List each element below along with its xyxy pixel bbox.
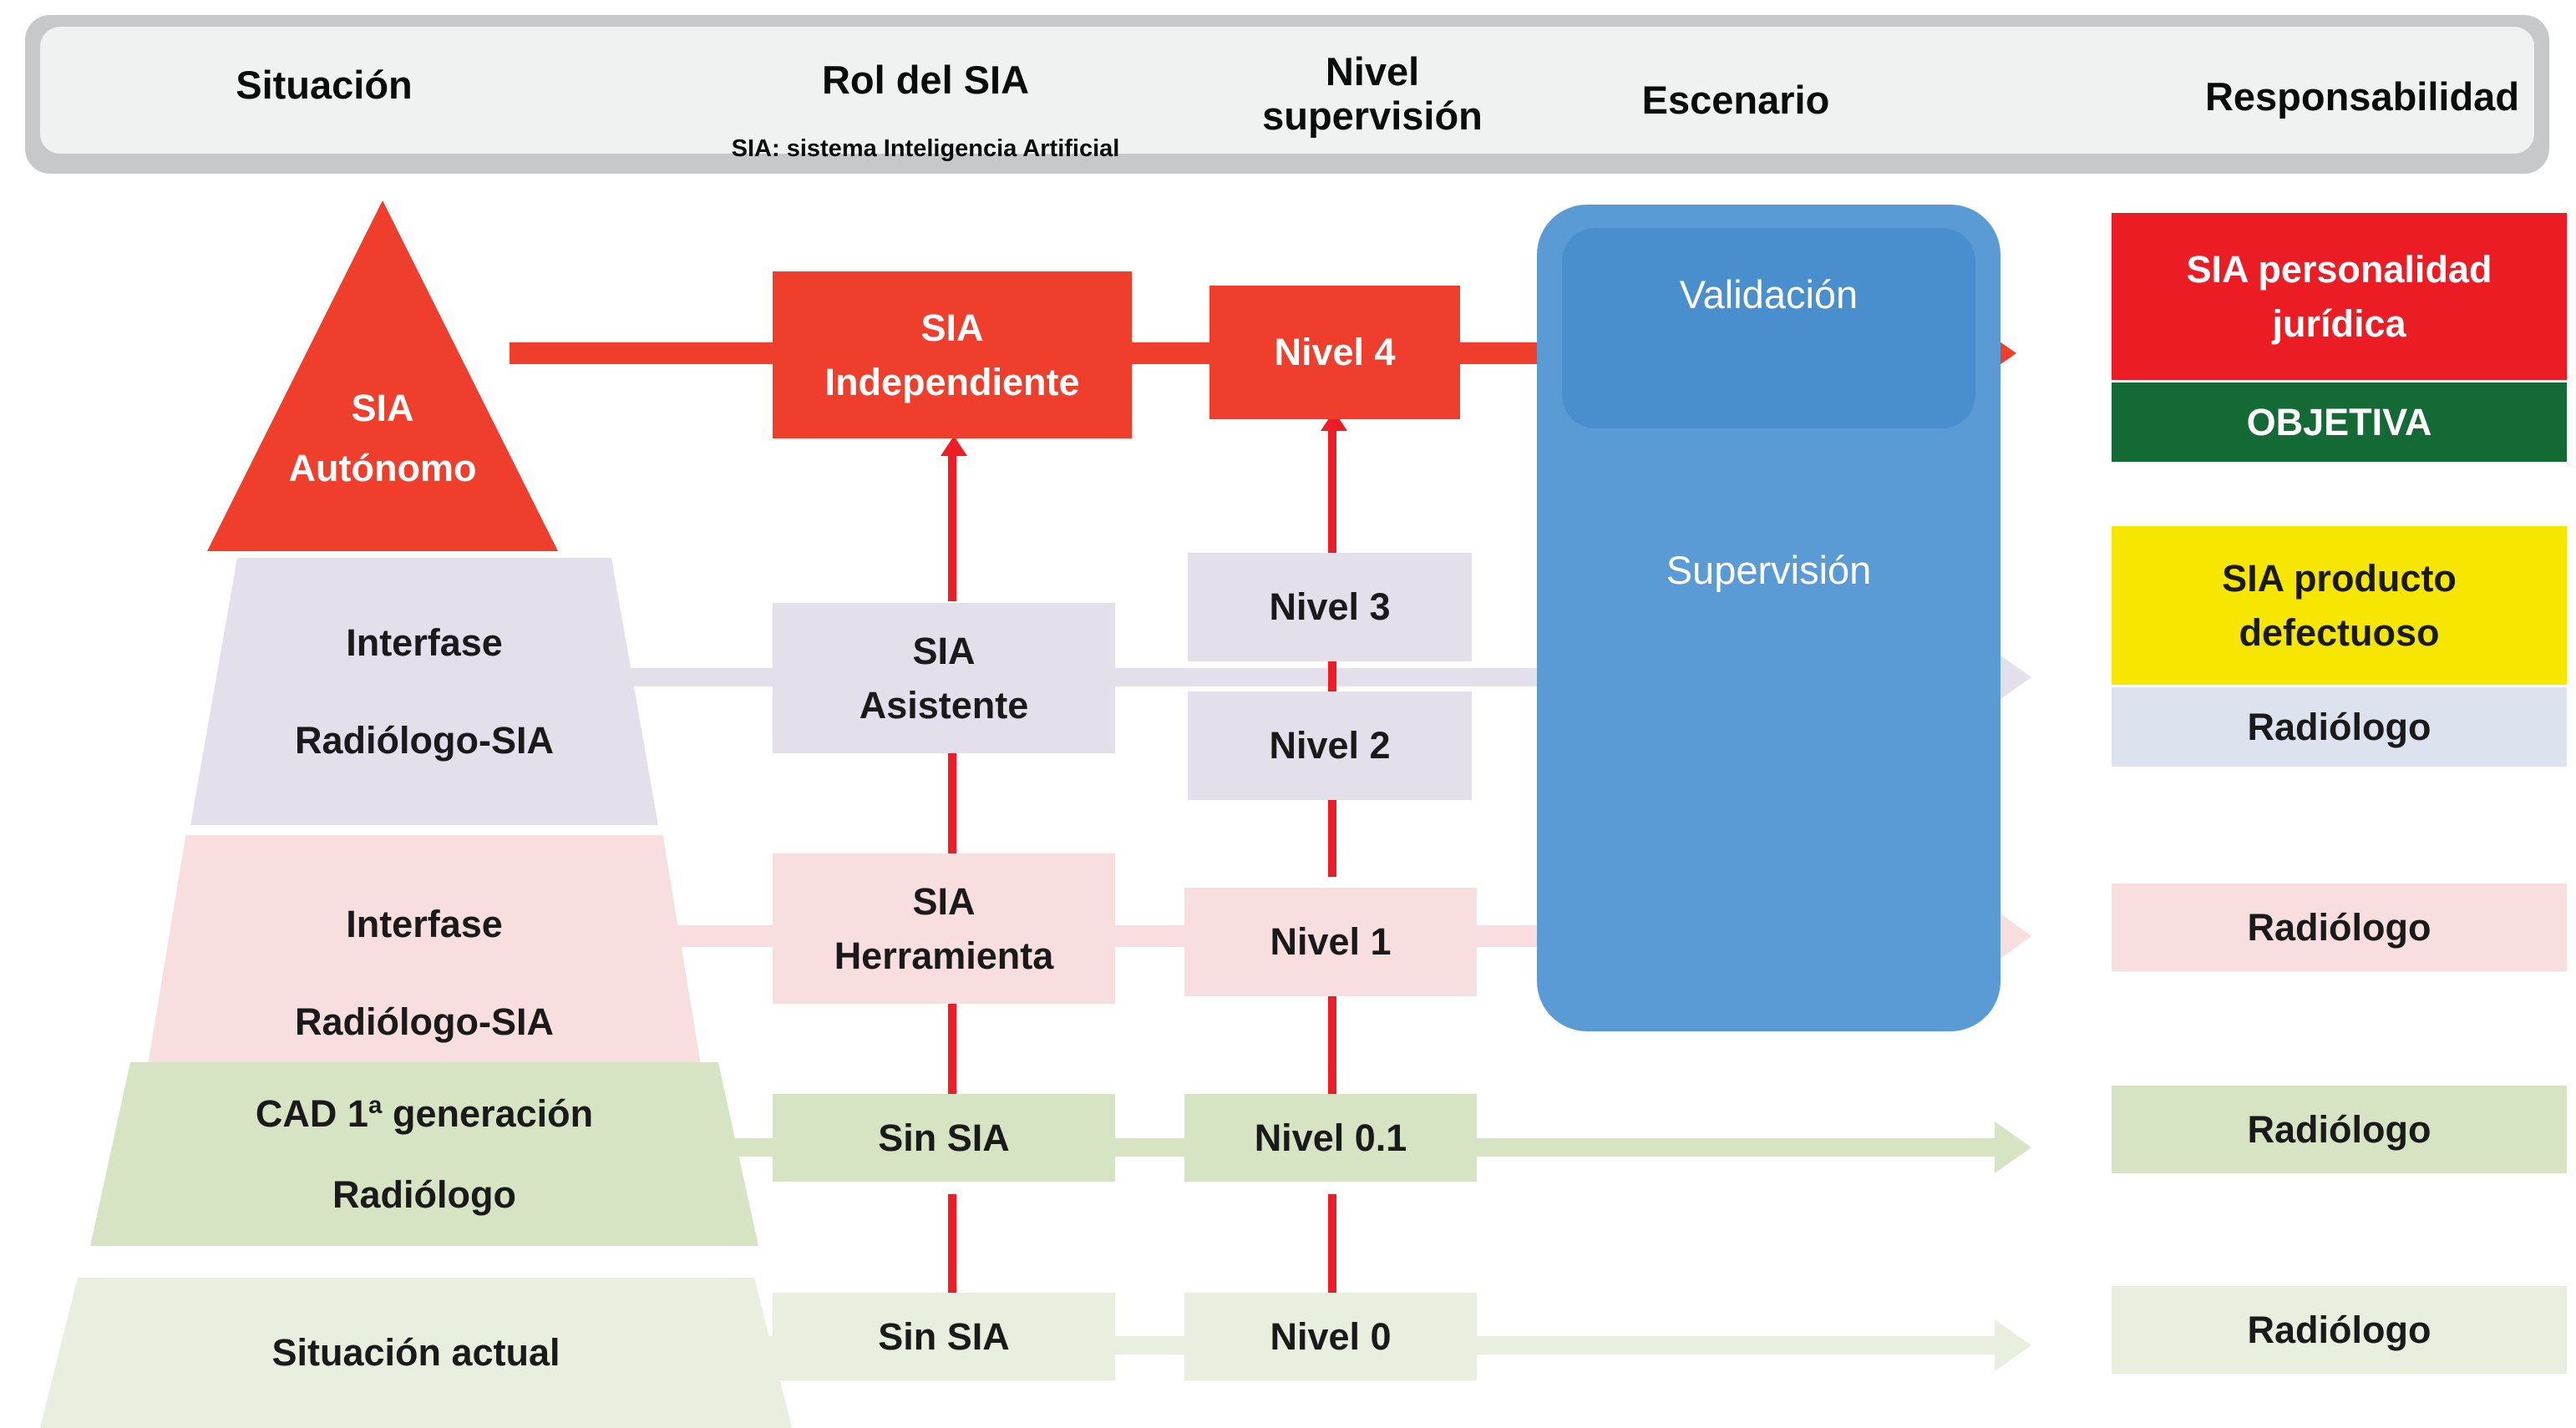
responsabilidad-box-personalidad-juridica[interactable]: SIA personalidad jurídica — [2112, 213, 2567, 380]
responsabilidad-radiologo-cad-label: Radiólogo — [2248, 1102, 2431, 1157]
responsabilidad-objetiva-label: OBJETIVA — [2247, 395, 2432, 449]
header-bar-inner: Situación Rol del SIA SIA: sistema Intel… — [40, 27, 2534, 154]
nivel-box-3[interactable]: Nivel 3 — [1188, 553, 1472, 661]
nivel-0-1-label: Nivel 0.1 — [1255, 1111, 1407, 1165]
rol-herramienta-line1: SIA — [912, 874, 975, 929]
escenario-panel[interactable]: Validación Supervisión — [1537, 205, 2000, 1031]
nivel-box-2[interactable]: Nivel 2 — [1188, 691, 1472, 800]
nivel-box-0-1[interactable]: Nivel 0.1 — [1184, 1094, 1477, 1182]
rol-sin-sia-cad-label: Sin SIA — [878, 1111, 1010, 1165]
responsabilidad-producto-line1: SIA producto — [2222, 551, 2457, 605]
situacion-shape-actual[interactable]: Situación actual — [40, 1278, 792, 1428]
responsabilidad-radiologo-herramienta-label: Radiólogo — [2248, 900, 2431, 955]
responsabilidad-box-radiologo-asistente[interactable]: Radiólogo — [2112, 687, 2567, 767]
situacion-shape-asistente[interactable]: Interfase Radiólogo-SIA — [190, 558, 658, 825]
diagram-canvas: Situación Rol del SIA SIA: sistema Intel… — [0, 0, 2576, 1400]
situacion-cad-label: CAD 1ª generación — [256, 1092, 593, 1135]
nivel-2-label: Nivel 2 — [1269, 718, 1390, 772]
situacion-shape-autonomo[interactable]: SIA Autónomo — [207, 200, 558, 551]
responsabilidad-producto-line2: defectuoso — [2239, 605, 2439, 660]
rol-box-herramienta[interactable]: SIA Herramienta — [773, 853, 1115, 1004]
header-bar: Situación Rol del SIA SIA: sistema Intel… — [25, 15, 2549, 174]
rol-herramienta-line2: Herramienta — [834, 929, 1054, 983]
responsabilidad-personalidad-line1: SIA personalidad — [2187, 242, 2492, 296]
nivel-3-label: Nivel 3 — [1269, 580, 1390, 634]
nivel-4-label: Nivel 4 — [1274, 325, 1395, 379]
rol-box-asistente[interactable]: SIA Asistente — [773, 603, 1115, 753]
nivel-box-0[interactable]: Nivel 0 — [1184, 1293, 1477, 1380]
situacion-cad-line2: Radiólogo — [332, 1167, 516, 1223]
nivel-box-1[interactable]: Nivel 1 — [1184, 888, 1477, 996]
header-col-nivel-supervision: Nivel supervisión — [1235, 50, 1510, 138]
rol-box-sin-sia-actual[interactable]: Sin SIA — [773, 1293, 1115, 1380]
nivel-box-4[interactable]: Nivel 4 — [1209, 286, 1460, 419]
situacion-asistente-line2: Radiólogo-SIA — [295, 712, 554, 769]
vertical-arrow-rol-1-head — [941, 436, 967, 456]
rol-sin-sia-actual-label: Sin SIA — [878, 1309, 1010, 1364]
header-nivel-line1: Nivel — [1326, 49, 1419, 94]
header-col-situacion: Situación — [157, 63, 491, 108]
escenario-validacion-label: Validación — [1562, 271, 1975, 317]
connector-row4-arrowhead — [1995, 1122, 2031, 1173]
situacion-herramienta-line2: Radiólogo-SIA — [295, 994, 554, 1051]
responsabilidad-box-radiologo-herramienta[interactable]: Radiólogo — [2112, 884, 2567, 971]
rol-box-independiente[interactable]: SIA Independiente — [773, 271, 1132, 438]
header-col-rol-sia-subtitle: SIA: sistema Inteligencia Artificial — [633, 135, 1218, 162]
rol-independiente-line2: Independiente — [824, 355, 1079, 409]
nivel-1-label: Nivel 1 — [1270, 914, 1391, 969]
header-nivel-line2: supervisión — [1262, 94, 1483, 138]
rol-asistente-line1: SIA — [912, 624, 975, 678]
responsabilidad-personalidad-line2: jurídica — [2272, 296, 2406, 351]
rol-box-sin-sia-cad[interactable]: Sin SIA — [773, 1094, 1115, 1182]
header-col-rol-sia: Rol del SIA — [633, 58, 1218, 103]
vertical-arrow-rol-1 — [948, 451, 956, 601]
responsabilidad-box-radiologo-cad[interactable]: Radiólogo — [2112, 1086, 2567, 1173]
situacion-asistente-line1: Interfase — [346, 615, 503, 671]
situacion-herramienta-line1: Interfase — [346, 896, 503, 953]
responsabilidad-box-producto-defectuoso[interactable]: SIA producto defectuoso — [2112, 526, 2567, 685]
connector-row5-arrowhead — [1995, 1319, 2031, 1371]
nivel-0-label: Nivel 0 — [1270, 1309, 1391, 1364]
header-col-responsabilidad: Responsabilidad — [2078, 75, 2576, 119]
situacion-cad-line1: CAD 1ª generación — [256, 1086, 593, 1142]
responsabilidad-radiologo-asistente-label: Radiólogo — [2248, 700, 2431, 754]
situacion-autonomo-line2: Autónomo — [289, 438, 477, 499]
responsabilidad-radiologo-actual-label: Radiólogo — [2248, 1303, 2431, 1357]
header-col-escenario: Escenario — [1569, 78, 1903, 123]
situacion-shape-cad[interactable]: CAD 1ª generación Radiólogo — [90, 1062, 758, 1246]
responsabilidad-box-objetiva[interactable]: OBJETIVA — [2112, 382, 2567, 462]
situacion-autonomo-line1: SIA — [351, 378, 413, 438]
responsabilidad-box-radiologo-actual[interactable]: Radiólogo — [2112, 1286, 2567, 1374]
escenario-validacion-panel[interactable] — [1562, 228, 1975, 428]
rol-independiente-line1: SIA — [920, 301, 983, 355]
situacion-actual-line1: Situación actual — [271, 1324, 560, 1381]
escenario-supervision-label: Supervisión — [1562, 547, 1975, 593]
rol-asistente-line2: Asistente — [860, 678, 1029, 732]
